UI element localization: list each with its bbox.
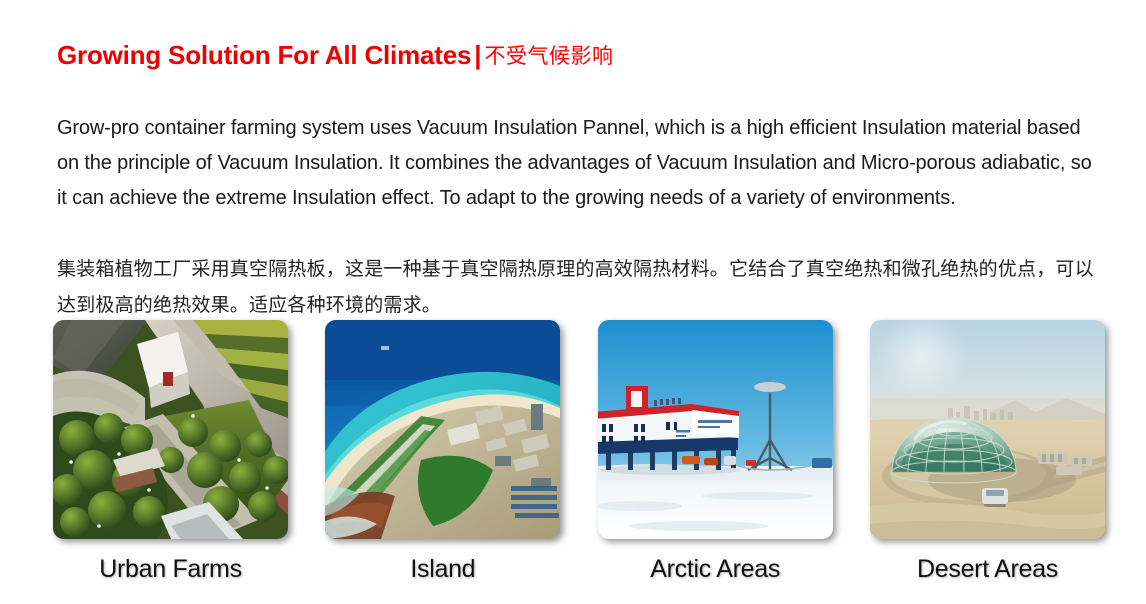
gallery-caption-arctic-areas: Arctic Areas xyxy=(598,555,833,584)
gallery-caption-desert-areas: Desert Areas xyxy=(870,555,1105,584)
climate-gallery: Urban Farms xyxy=(53,320,1105,584)
gallery-item-urban-farms[interactable]: Urban Farms xyxy=(53,320,288,584)
desert-biodome-greenhouse-photo[interactable] xyxy=(870,320,1105,539)
page-title: Growing Solution For All Climates|不受气候影响 xyxy=(57,42,614,68)
title-separator: | xyxy=(471,42,484,68)
gallery-item-desert-areas[interactable]: Desert Areas xyxy=(870,320,1105,584)
aerial-tropical-island-photo[interactable] xyxy=(325,320,560,539)
page-title-english: Growing Solution For All Climates xyxy=(57,40,471,70)
island-illustration xyxy=(325,320,560,539)
gallery-caption-island: Island xyxy=(325,555,560,584)
antarctic-research-station-photo[interactable] xyxy=(598,320,833,539)
description-chinese: 集装箱植物工厂采用真空隔热板，这是一种基于真空隔热原理的高效隔热材料。它结合了真… xyxy=(57,251,1097,323)
page-title-chinese: 不受气候影响 xyxy=(485,44,614,68)
desert-biodome-illustration xyxy=(870,320,1105,539)
urban-farm-illustration xyxy=(53,320,288,539)
description-english: Grow-pro container farming system uses V… xyxy=(57,111,1093,216)
gallery-caption-urban-farms: Urban Farms xyxy=(53,555,288,584)
gallery-item-island[interactable]: Island xyxy=(325,320,560,584)
polar-station-illustration xyxy=(598,320,833,539)
aerial-urban-rooftop-garden-photo[interactable] xyxy=(53,320,288,539)
gallery-item-arctic-areas[interactable]: Arctic Areas xyxy=(598,320,833,584)
